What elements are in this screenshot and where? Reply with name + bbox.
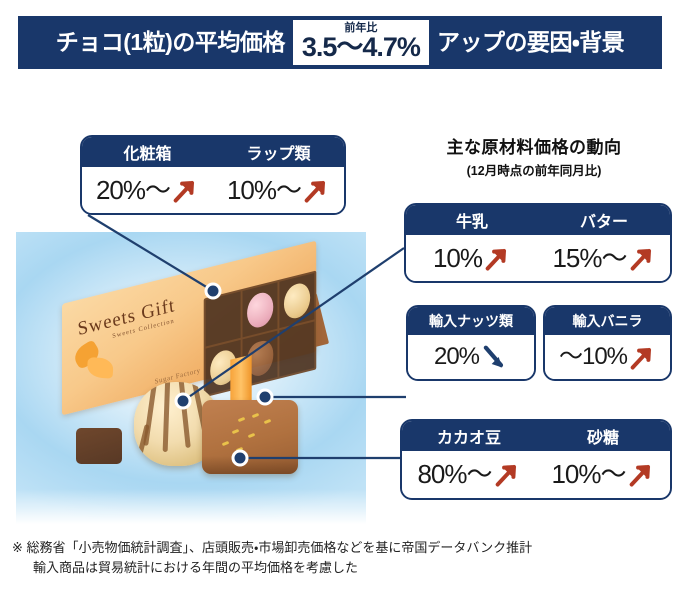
arrow-down-icon <box>480 343 508 371</box>
card-dairy-label-0: 牛乳 <box>406 208 538 232</box>
infographic-root: チョコ(1粒)の平均価格 前年比 3.5〜4.7% アップの要因・背景 <box>0 0 680 592</box>
card-dairy-value-0: 10% <box>433 245 482 271</box>
card-vanilla: 輸入バニラ 〜10% <box>543 305 672 381</box>
chocolate-illustration: Sweets Gift Sweets Collection Sugar Fact… <box>16 232 366 527</box>
card-cacao-label-1: 砂糖 <box>536 424 670 448</box>
card-dairy-body: 10% 15%〜 <box>406 235 670 281</box>
dark-chocolate-piece <box>76 428 122 464</box>
arrow-up-icon <box>483 244 511 272</box>
card-cacao-body: 80%〜 10%〜 <box>402 451 670 497</box>
card-dairy: 牛乳 バター 10% 15%〜 <box>404 203 672 283</box>
arrow-up-icon <box>493 460 521 488</box>
card-packaging-value-0: 20%〜 <box>96 177 170 203</box>
header-banner: チョコ(1粒)の平均価格 前年比 3.5〜4.7% アップの要因・背景 <box>18 16 662 69</box>
arrow-up-icon <box>628 343 656 371</box>
card-dairy-header: 牛乳 バター <box>406 205 670 235</box>
card-dairy-cell-1: 15%〜 <box>538 244 670 272</box>
card-packaging-label-0: 化粧箱 <box>82 140 213 164</box>
materials-title: 主な原材料価格の動向 <box>396 133 672 158</box>
card-nuts-label-0: 輸入ナッツ類 <box>408 311 534 331</box>
footnote-line-2: 輸入商品は貿易統計における年間の平均価格を考慮した <box>33 558 672 578</box>
card-cacao: カカオ豆 砂糖 80%〜 10%〜 <box>400 419 672 500</box>
card-packaging-cell-1: 10%〜 <box>213 176 344 204</box>
card-packaging-body: 20%〜 10%〜 <box>82 167 344 213</box>
card-dairy-cell-0: 10% <box>406 244 538 272</box>
arrow-up-icon <box>628 244 656 272</box>
card-vanilla-label-0: 輸入バニラ <box>545 311 670 331</box>
card-packaging-cell-0: 20%〜 <box>82 176 213 204</box>
square-chocolate-piece <box>202 400 298 474</box>
header-chip-value: 3.5〜4.7% <box>302 34 420 61</box>
card-cacao-cell-0: 80%〜 <box>402 460 536 488</box>
card-nuts-body: 20% <box>408 335 534 379</box>
card-packaging-value-1: 10%〜 <box>227 177 301 203</box>
header-rate-chip: 前年比 3.5〜4.7% <box>293 20 429 65</box>
footnote-line-1: ※ 総務省「小売物価統計調査」、店頭販売・市場卸売価格などを基に帝国データバンク… <box>12 540 532 555</box>
tray-cell <box>243 282 278 337</box>
tray-cell <box>279 321 314 376</box>
tray-cell <box>279 273 314 328</box>
footnote: ※ 総務省「小売物価統計調査」、店頭販売・市場卸売価格などを基に帝国データバンク… <box>12 538 672 578</box>
card-vanilla-body: 〜10% <box>545 335 670 379</box>
card-cacao-label-0: カカオ豆 <box>402 424 536 448</box>
card-cacao-header: カカオ豆 砂糖 <box>402 421 670 451</box>
card-packaging: 化粧箱 ラップ類 20%〜 10%〜 <box>80 135 346 215</box>
header-right-text: アップの要因・背景 <box>437 31 624 54</box>
arrow-up-icon <box>627 460 655 488</box>
card-packaging-header: 化粧箱 ラップ類 <box>82 137 344 167</box>
card-nuts-cell-0: 20% <box>408 343 534 371</box>
tray-cell <box>206 291 241 346</box>
materials-subtitle: (12月時点の前年同月比) <box>396 160 672 179</box>
card-vanilla-cell-0: 〜10% <box>545 343 670 371</box>
card-vanilla-header: 輸入バニラ <box>545 307 670 335</box>
card-cacao-value-0: 80%〜 <box>417 461 491 487</box>
card-cacao-value-1: 10%〜 <box>551 461 625 487</box>
card-vanilla-value-0: 〜10% <box>559 345 627 369</box>
arrow-up-icon <box>302 176 330 204</box>
card-cacao-cell-1: 10%〜 <box>536 460 670 488</box>
card-nuts-header: 輸入ナッツ類 <box>408 307 534 335</box>
arrow-up-icon <box>171 176 199 204</box>
card-nuts-value-0: 20% <box>434 345 479 369</box>
card-dairy-value-1: 15%〜 <box>552 245 626 271</box>
card-packaging-label-1: ラップ類 <box>213 140 344 164</box>
header-left-text: チョコ(1粒)の平均価格 <box>56 31 285 54</box>
card-dairy-label-1: バター <box>538 208 670 232</box>
materials-title-block: 主な原材料価格の動向 (12月時点の前年同月比) <box>396 133 672 179</box>
card-nuts: 輸入ナッツ類 20% <box>406 305 536 381</box>
